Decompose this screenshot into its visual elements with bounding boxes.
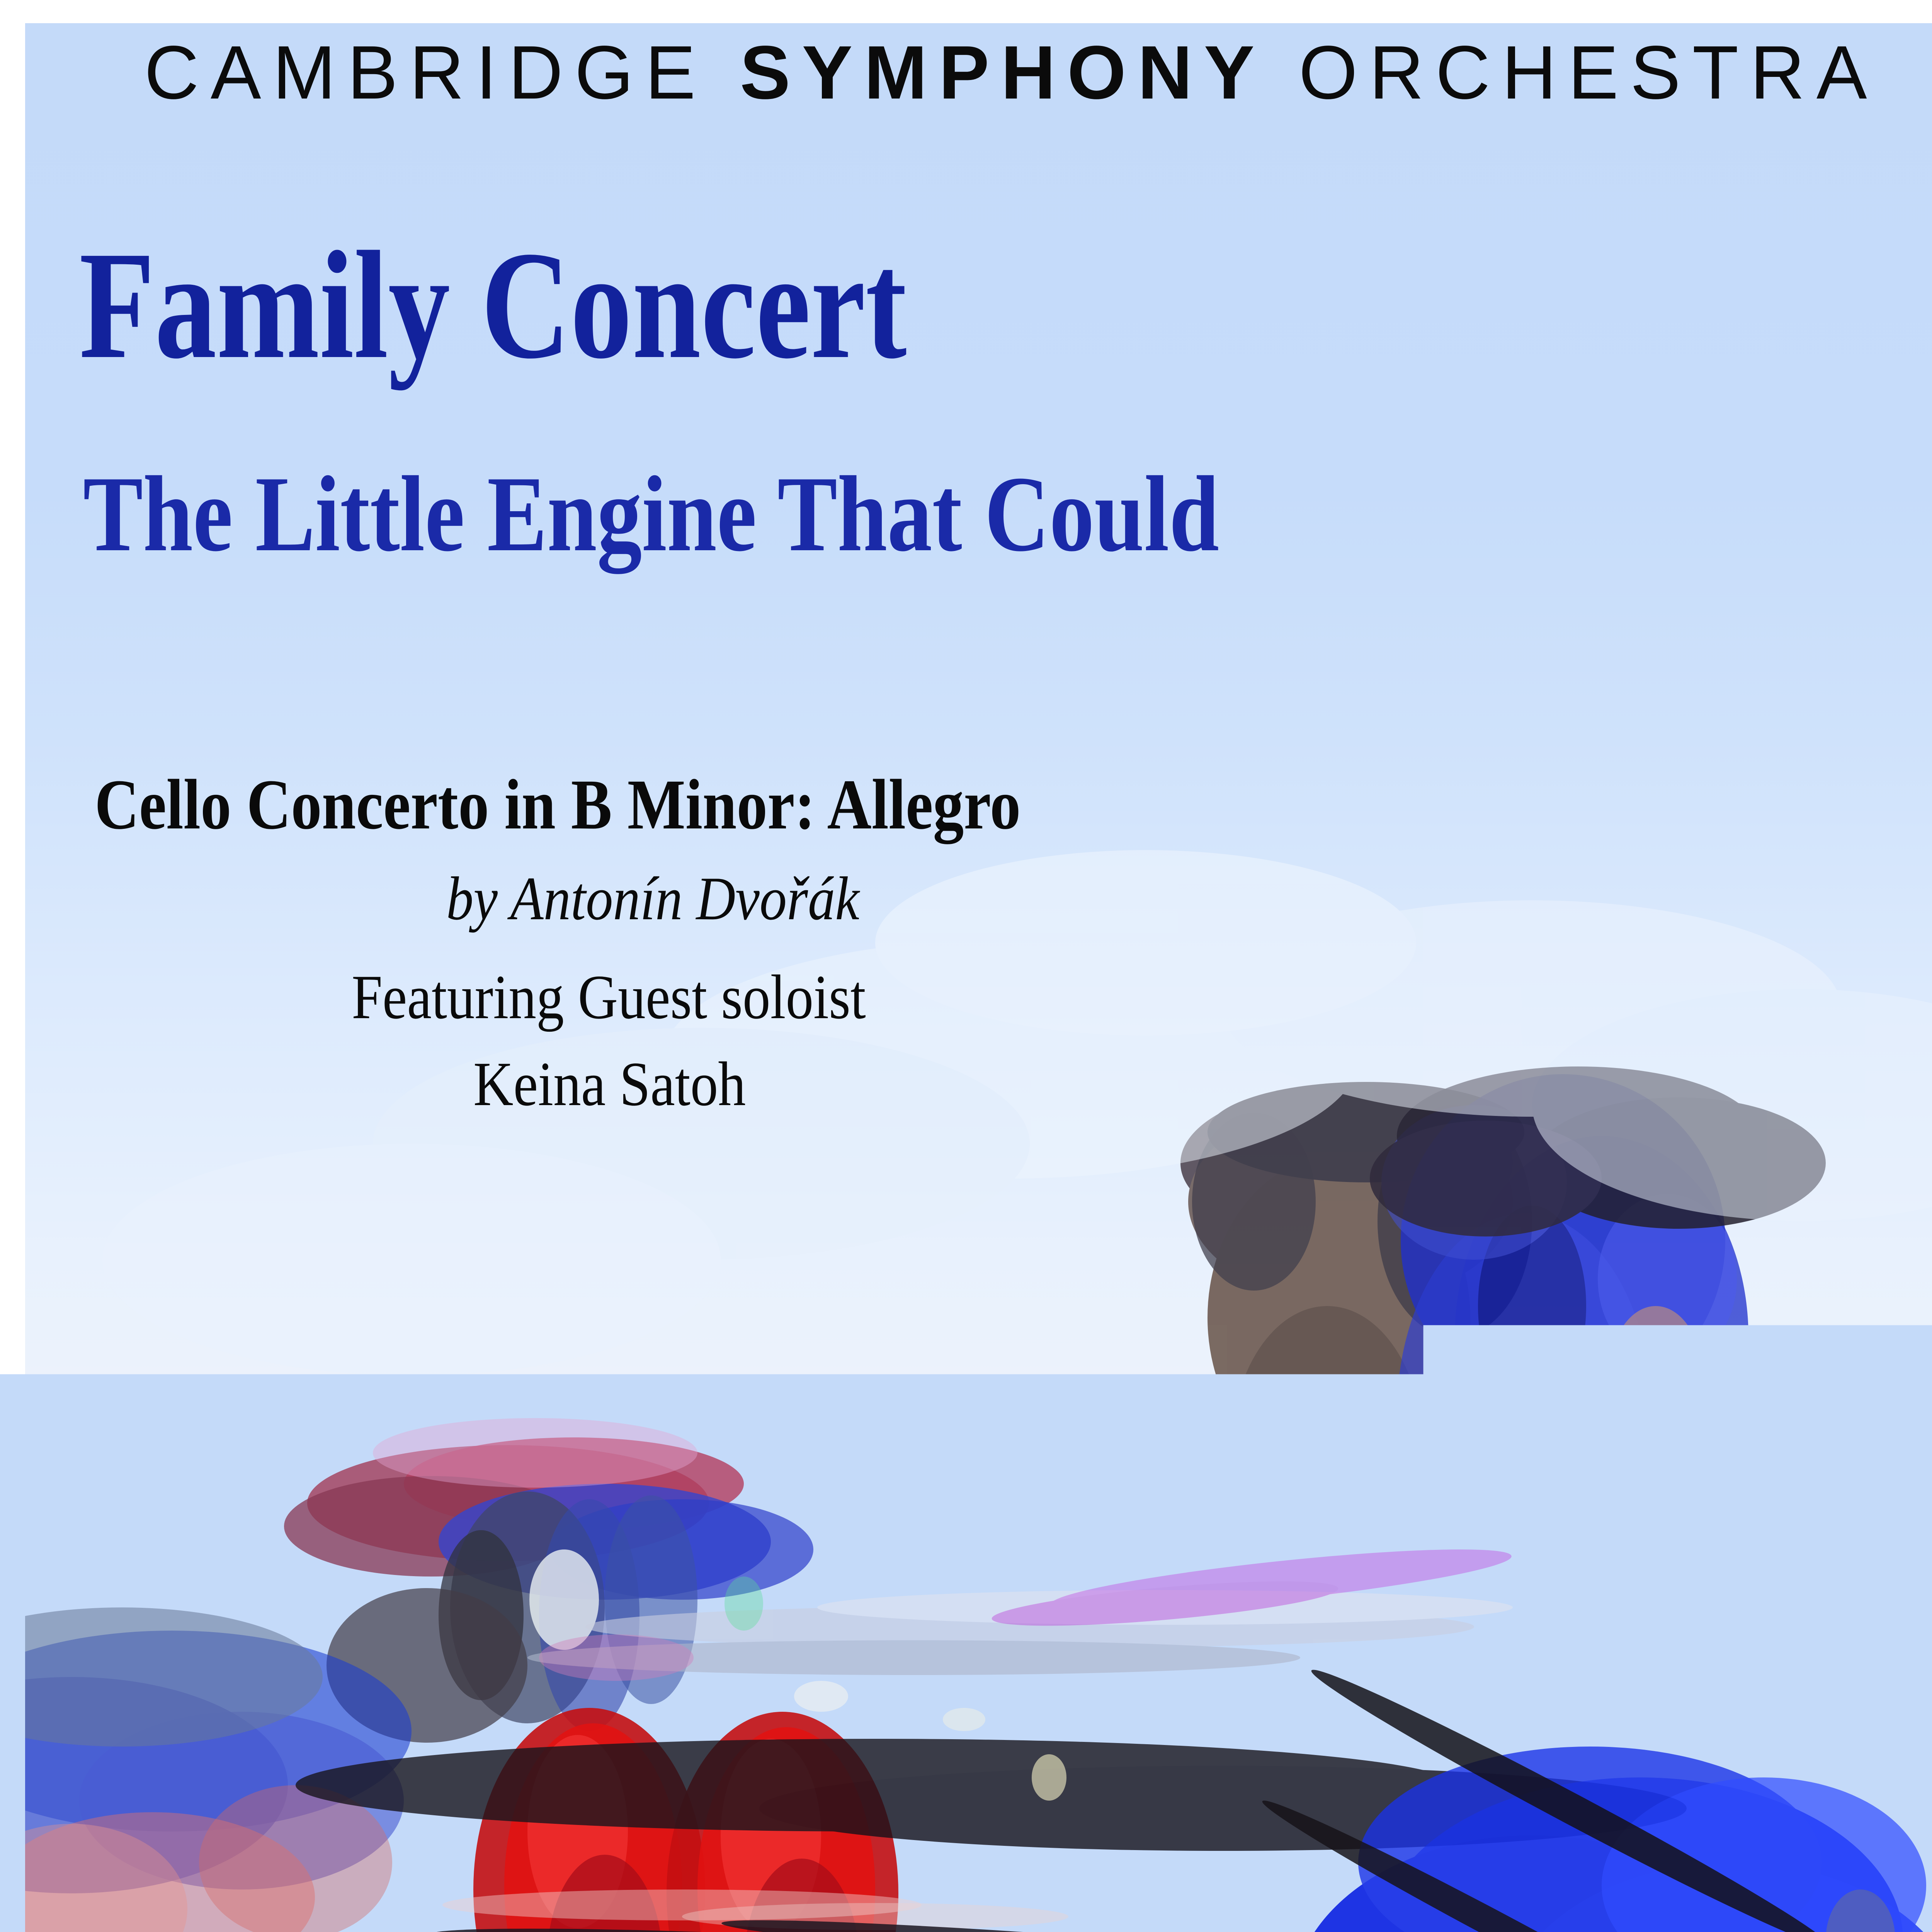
program-work-title: Cello Concerto in B Minor: Allegro	[95, 769, 1020, 840]
poster-title: Family Concert	[79, 228, 907, 383]
program-soloist-name: Keina Satoh	[473, 1053, 746, 1116]
poster-canvas: CAMBRIDGE SYMPHONY ORCHESTRA Family Conc…	[25, 23, 1932, 1932]
program-featuring-label: Featuring Guest soloist	[352, 966, 866, 1029]
organization-header: CAMBRIDGE SYMPHONY ORCHESTRA	[25, 35, 1932, 111]
org-name-part2: SYMPHONY	[740, 30, 1266, 115]
program-composer: by Antonín Dvořák	[446, 867, 859, 929]
org-name-part1: CAMBRIDGE	[144, 30, 740, 115]
org-name-part3: ORCHESTRA	[1266, 30, 1879, 115]
poster-subtitle: The Little Engine That Could	[83, 460, 1219, 568]
